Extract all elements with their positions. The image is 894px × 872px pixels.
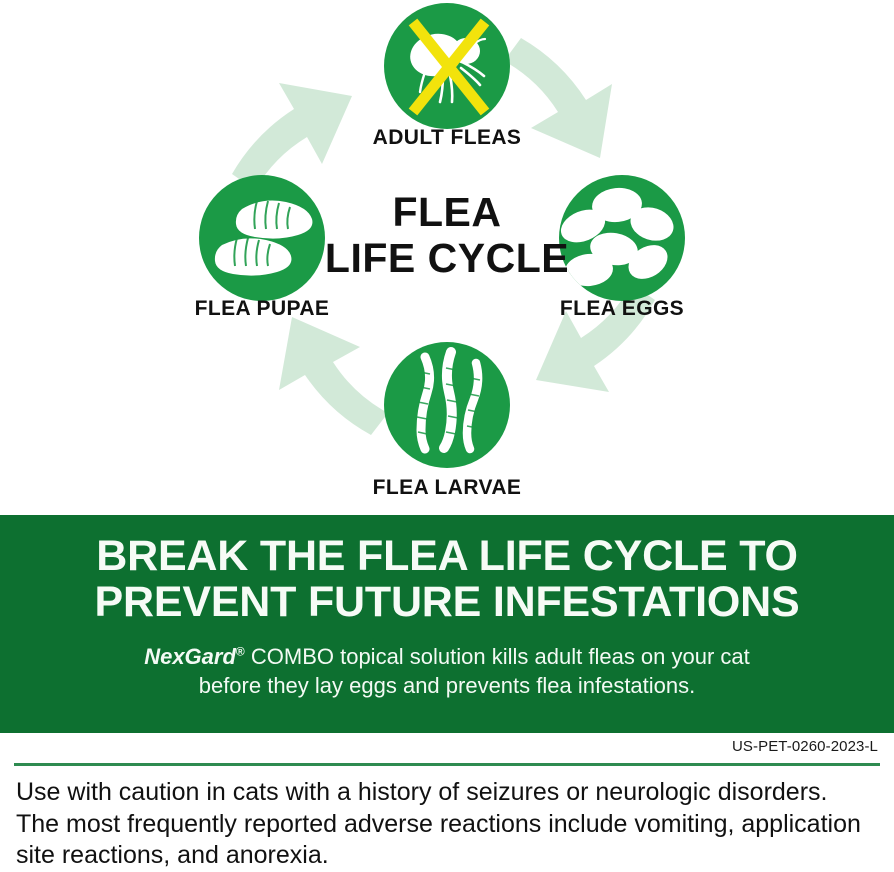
center-title-line-1: FLEA [325,190,569,236]
banner-subtext-line-2: before they lay eggs and prevents flea i… [16,671,878,700]
brand-name: NexGard [144,644,236,669]
banner-subtext-rest: COMBO topical solution kills adult fleas… [245,644,750,669]
divider-rule [14,763,880,766]
label-adult-fleas: ADULT FLEAS [373,126,522,150]
flea-life-cycle-diagram: FLEA LIFE CYCLE ADULT FLEAS FLEA EGGS FL… [0,0,894,515]
document-code: US-PET-0260-2023-L [732,738,878,755]
banner-headline-line-1: BREAK THE FLEA LIFE CYCLE TO [16,533,878,579]
footer: US-PET-0260-2023-L Use with caution in c… [0,733,894,871]
banner-subtext-line-1: NexGard® COMBO topical solution kills ad… [16,642,878,671]
arrow-larvae-to-pupae [279,317,388,435]
node-flea-larvae [384,342,510,468]
banner-subtext: NexGard® COMBO topical solution kills ad… [16,642,878,701]
promo-banner: BREAK THE FLEA LIFE CYCLE TO PREVENT FUT… [0,515,894,733]
node-flea-eggs [556,175,685,301]
arrow-pupae-to-adult [232,83,352,190]
label-flea-pupae: FLEA PUPAE [195,297,330,321]
diagram-center-title: FLEA LIFE CYCLE [325,190,569,282]
registered-mark: ® [236,645,245,659]
label-flea-larvae: FLEA LARVAE [373,476,522,500]
banner-headline: BREAK THE FLEA LIFE CYCLE TO PREVENT FUT… [16,533,878,626]
node-adult-fleas [384,3,510,129]
flea-pupae-circle [199,175,325,301]
label-flea-eggs: FLEA EGGS [560,297,684,321]
caution-statement: Use with caution in cats with a history … [16,777,874,872]
banner-headline-line-2: PREVENT FUTURE INFESTATIONS [16,579,878,625]
node-flea-pupae [199,175,325,301]
center-title-line-2: LIFE CYCLE [325,236,569,282]
